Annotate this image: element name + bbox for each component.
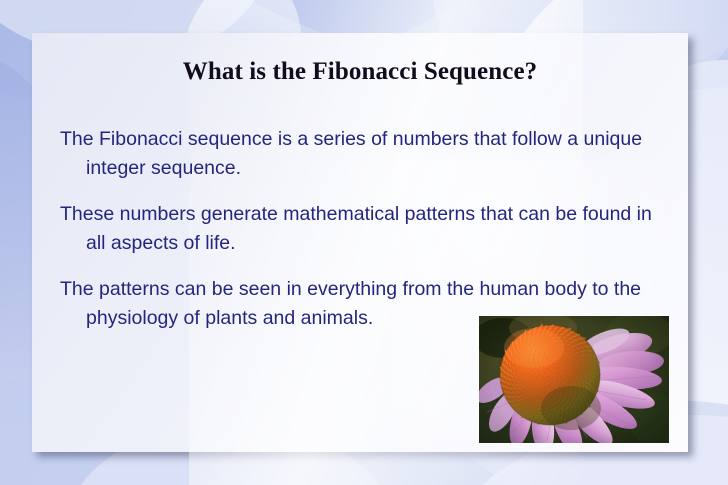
slide-body: The Fibonacci sequence is a series of nu… (60, 125, 668, 333)
slide-content-panel: What is the Fibonacci Sequence? The Fibo… (32, 33, 688, 452)
presentation-slide: What is the Fibonacci Sequence? The Fibo… (0, 0, 728, 485)
coneflower-photo (479, 316, 669, 443)
body-paragraph-2: These numbers generate mathematical patt… (60, 200, 668, 258)
page-title: What is the Fibonacci Sequence? (32, 58, 688, 86)
body-paragraph-1: The Fibonacci sequence is a series of nu… (60, 125, 668, 183)
